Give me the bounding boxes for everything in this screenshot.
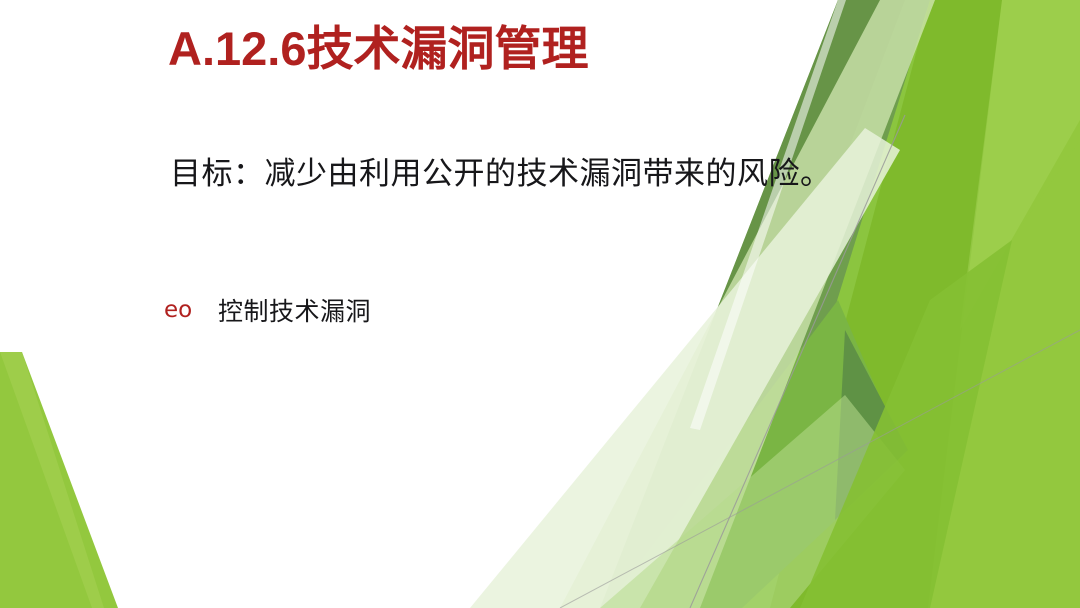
slide-content: A.12.6技术漏洞管理 目标：减少由利用公开的技术漏洞带来的风险。 ео 控制… xyxy=(0,0,1080,608)
list-item-label: 控制技术漏洞 xyxy=(218,292,371,328)
objective-statement: 目标：减少由利用公开的技术漏洞带来的风险。 xyxy=(170,148,832,193)
page-title: A.12.6技术漏洞管理 xyxy=(168,22,588,76)
swirl-bullet-icon: ео xyxy=(162,299,218,322)
list-item: ео 控制技术漏洞 xyxy=(162,291,371,329)
presentation-slide: A.12.6技术漏洞管理 目标：减少由利用公开的技术漏洞带来的风险。 ео 控制… xyxy=(0,0,1080,608)
bullet-list: ео 控制技术漏洞 xyxy=(162,291,371,329)
